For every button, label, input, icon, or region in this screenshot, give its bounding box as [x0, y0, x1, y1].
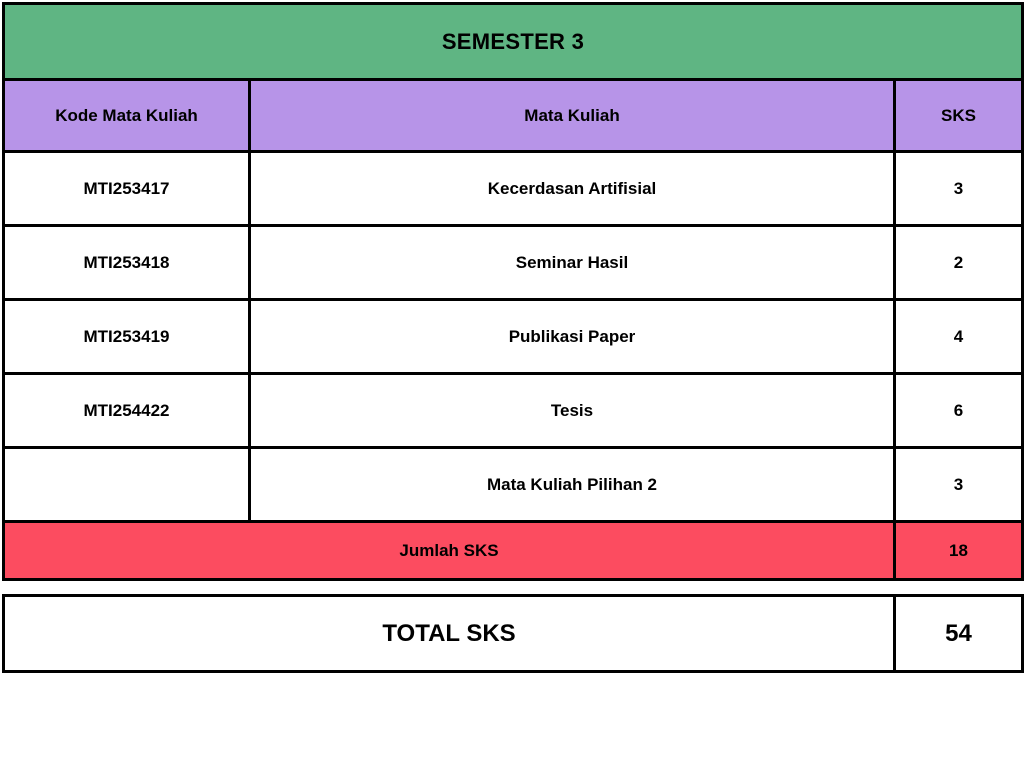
table-row: MTI253418 Seminar Hasil 2	[4, 226, 1023, 300]
semester-table: SEMESTER 3 Kode Mata Kuliah Mata Kuliah …	[2, 2, 1024, 581]
course-code	[4, 448, 250, 522]
table-row: Mata Kuliah Pilihan 2 3	[4, 448, 1023, 522]
course-name: Tesis	[250, 374, 895, 448]
course-name: Publikasi Paper	[250, 300, 895, 374]
course-sks: 2	[895, 226, 1023, 300]
course-code: MTI253417	[4, 152, 250, 226]
header-mata-kuliah: Mata Kuliah	[250, 80, 895, 152]
header-kode-mata-kuliah: Kode Mata Kuliah	[4, 80, 250, 152]
course-sks: 4	[895, 300, 1023, 374]
course-code: MTI253418	[4, 226, 250, 300]
course-sks: 6	[895, 374, 1023, 448]
grand-total-value: 54	[895, 596, 1023, 672]
grand-total-row: TOTAL SKS 54	[4, 596, 1023, 672]
subtotal-value: 18	[895, 522, 1023, 580]
column-header-row: Kode Mata Kuliah Mata Kuliah SKS	[4, 80, 1023, 152]
table-row: MTI254422 Tesis 6	[4, 374, 1023, 448]
curriculum-page: SEMESTER 3 Kode Mata Kuliah Mata Kuliah …	[0, 0, 1024, 768]
course-name: Kecerdasan Artifisial	[250, 152, 895, 226]
grand-total-table: TOTAL SKS 54	[2, 594, 1024, 673]
semester-banner-row: SEMESTER 3	[4, 4, 1023, 80]
semester-title: SEMESTER 3	[4, 4, 1023, 80]
subtotal-label: Jumlah SKS	[4, 522, 895, 580]
course-name: Seminar Hasil	[250, 226, 895, 300]
course-name: Mata Kuliah Pilihan 2	[250, 448, 895, 522]
course-code: MTI254422	[4, 374, 250, 448]
course-sks: 3	[895, 448, 1023, 522]
header-sks: SKS	[895, 80, 1023, 152]
course-sks: 3	[895, 152, 1023, 226]
grand-total-label: TOTAL SKS	[4, 596, 895, 672]
course-code: MTI253419	[4, 300, 250, 374]
table-row: MTI253419 Publikasi Paper 4	[4, 300, 1023, 374]
subtotal-row: Jumlah SKS 18	[4, 522, 1023, 580]
table-row: MTI253417 Kecerdasan Artifisial 3	[4, 152, 1023, 226]
